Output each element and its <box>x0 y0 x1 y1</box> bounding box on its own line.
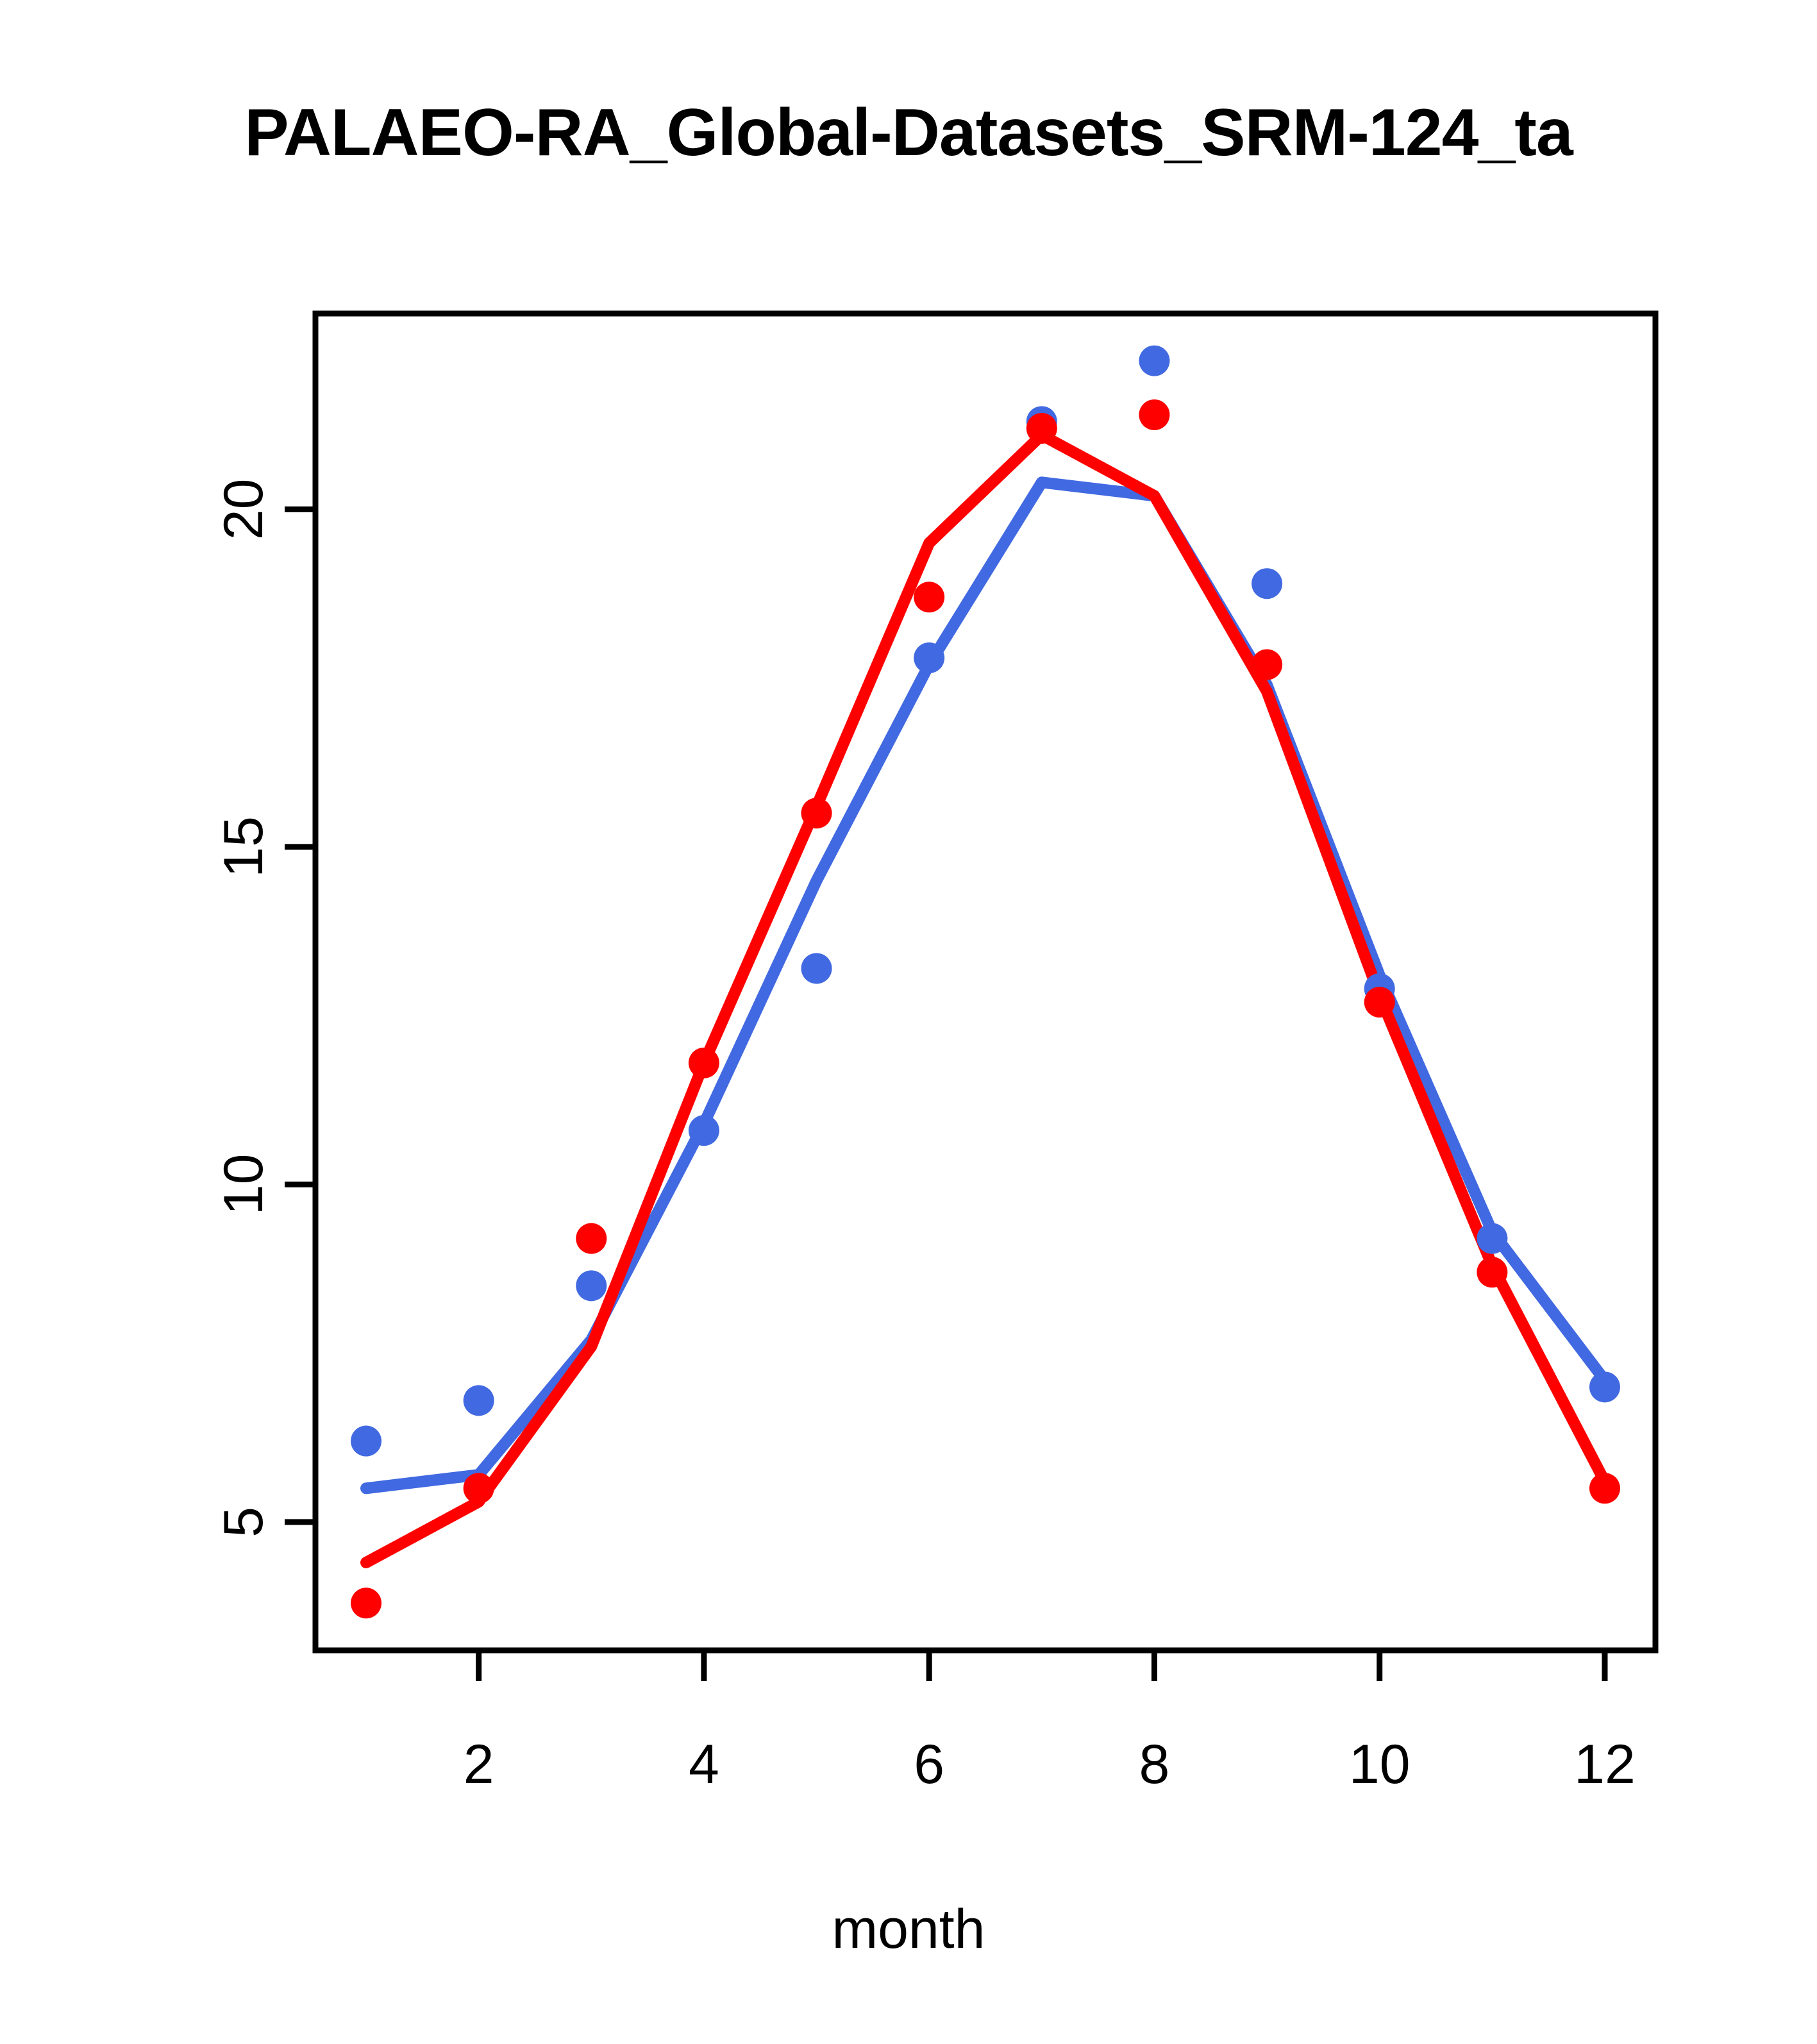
data-point-blue-points <box>576 1270 607 1301</box>
x-axis-tick-label: 2 <box>464 1734 494 1795</box>
x-axis-tick-label: 6 <box>914 1734 944 1795</box>
data-point-red-points <box>1477 1257 1507 1287</box>
y-axis: 5101520 <box>213 479 315 1537</box>
data-point-blue-points <box>1589 1371 1620 1402</box>
data-point-blue-points <box>1477 1223 1507 1254</box>
data-point-red-points <box>1026 413 1057 444</box>
y-axis-tick-label: 5 <box>213 1507 274 1537</box>
data-point-blue-points <box>801 953 832 984</box>
data-point-blue-points <box>351 1426 381 1457</box>
data-point-red-points <box>1139 399 1169 430</box>
data-point-blue-points <box>689 1115 719 1146</box>
x-axis: 24681012 <box>464 1650 1636 1795</box>
x-axis-tick-label: 10 <box>1349 1734 1411 1795</box>
x-axis-title: month <box>0 1898 1817 1961</box>
data-point-red-points <box>1589 1473 1620 1504</box>
data-point-blue-points <box>1252 568 1282 599</box>
chart-figure: PALAEO-RA_Global-Datasets_SRM-124_ta 510… <box>0 0 1817 2044</box>
data-point-blue-points <box>1139 346 1169 376</box>
plot-area: 5101520 24681012 <box>0 0 1817 2044</box>
x-axis-tick-label: 12 <box>1574 1734 1636 1795</box>
data-point-blue-points <box>464 1385 494 1416</box>
data-point-red-points <box>351 1587 381 1618</box>
series-points <box>351 346 1620 1619</box>
y-axis-tick-label: 20 <box>213 479 274 540</box>
x-axis-tick-label: 8 <box>1139 1734 1170 1795</box>
data-point-red-points <box>914 582 944 612</box>
data-point-red-points <box>801 798 832 828</box>
data-point-red-points <box>1252 649 1282 680</box>
series-line-blue-line <box>366 482 1605 1488</box>
y-axis-tick-label: 10 <box>213 1154 274 1216</box>
data-point-blue-points <box>914 642 944 673</box>
y-axis-tick-label: 15 <box>213 816 274 878</box>
series-lines <box>366 435 1605 1563</box>
data-point-red-points <box>576 1223 607 1254</box>
x-axis-tick-label: 4 <box>689 1734 719 1795</box>
data-point-red-points <box>464 1473 494 1504</box>
series-line-red-line <box>366 435 1605 1563</box>
data-point-red-points <box>1364 987 1395 1018</box>
data-point-red-points <box>689 1048 719 1078</box>
